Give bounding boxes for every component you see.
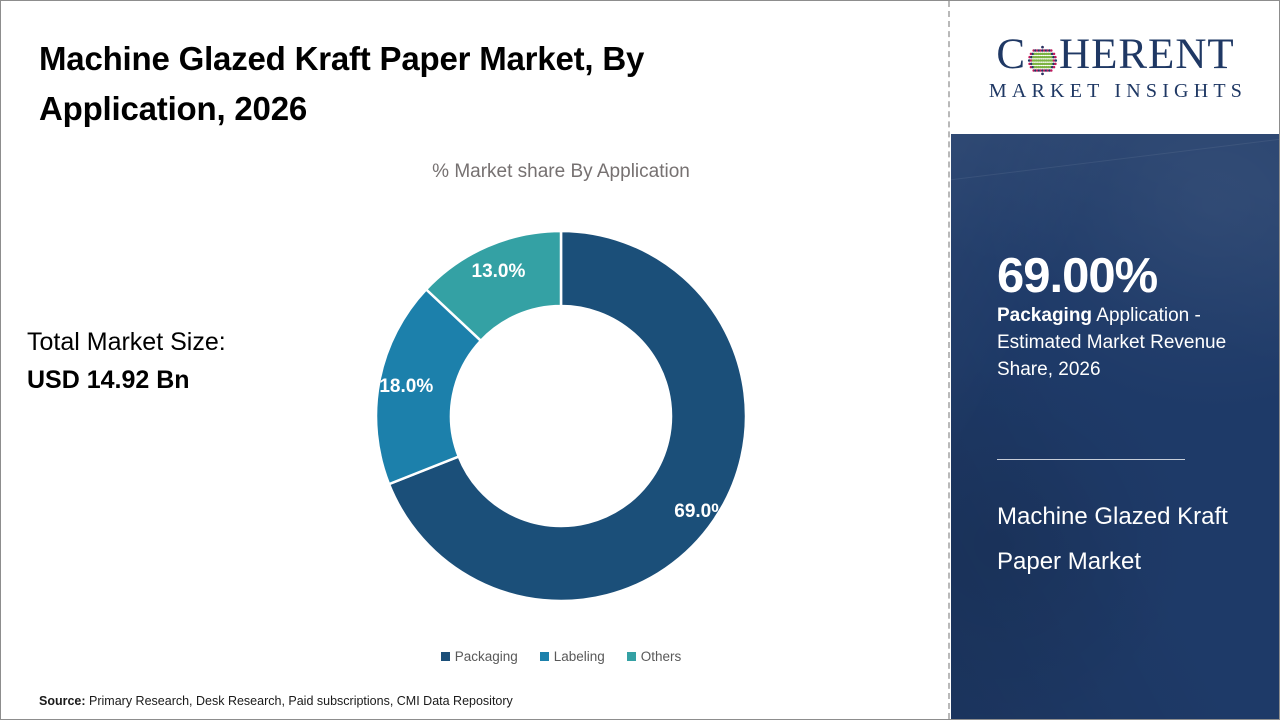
dotted-globe-icon xyxy=(1027,41,1058,72)
chart-subtitle: % Market share By Application xyxy=(301,161,821,183)
infographic-page: Machine Glazed Kraft Paper Market, By Ap… xyxy=(0,0,1280,720)
source-note: Source: Primary Research, Desk Research,… xyxy=(39,694,513,708)
chart-panel: Machine Glazed Kraft Paper Market, By Ap… xyxy=(1,1,949,719)
highlight-content: 69.00% Packaging Application - Estimated… xyxy=(951,134,1280,719)
total-market-size-label: Total Market Size: xyxy=(27,323,347,361)
panel-rule xyxy=(997,459,1185,460)
chart-legend: Packaging Labeling Others xyxy=(376,649,746,664)
legend-label-packaging: Packaging xyxy=(455,649,518,664)
highlight-panel: 69.00% Packaging Application - Estimated… xyxy=(951,134,1280,719)
legend-item-packaging[interactable]: Packaging xyxy=(441,649,518,664)
brand-panel: C HERENT MARKET INSIGHTS 69.00% Packagin… xyxy=(951,1,1280,719)
donut-slices xyxy=(376,231,746,601)
donut-label-others: 13.0% xyxy=(472,261,526,282)
legend-label-others: Others xyxy=(641,649,682,664)
donut-label-packaging: 69.0% xyxy=(674,501,728,522)
legend-item-labeling[interactable]: Labeling xyxy=(540,649,605,664)
logo-wordmark: C HERENT xyxy=(996,33,1234,76)
logo[interactable]: C HERENT MARKET INSIGHTS xyxy=(951,1,1280,134)
logo-word-c: C xyxy=(996,33,1026,76)
highlight-stat-caption: Packaging Application - Estimated Market… xyxy=(997,302,1247,383)
panel-divider xyxy=(948,1,950,719)
logo-tagline: MARKET INSIGHTS xyxy=(984,80,1247,103)
legend-swatch-labeling xyxy=(540,652,549,661)
legend-swatch-others xyxy=(627,652,636,661)
logo-word-herent: HERENT xyxy=(1059,33,1235,76)
donut-chart-svg: 69.0%18.0%13.0% xyxy=(376,231,746,601)
donut-chart: 69.0%18.0%13.0% xyxy=(376,231,746,601)
total-market-size-value: USD 14.92 Bn xyxy=(27,361,347,399)
highlight-stat-value: 69.00% xyxy=(997,252,1157,301)
source-text: Primary Research, Desk Research, Paid su… xyxy=(89,694,513,708)
donut-label-labeling: 18.0% xyxy=(379,376,433,397)
total-market-size-block: Total Market Size: USD 14.92 Bn xyxy=(27,323,347,399)
legend-swatch-packaging xyxy=(441,652,450,661)
legend-item-others[interactable]: Others xyxy=(627,649,682,664)
legend-label-labeling: Labeling xyxy=(554,649,605,664)
source-label: Source: xyxy=(39,694,86,708)
highlight-stat-caption-bold: Packaging xyxy=(997,305,1092,326)
page-title: Machine Glazed Kraft Paper Market, By Ap… xyxy=(39,34,799,134)
market-name: Machine Glazed Kraft Paper Market xyxy=(997,494,1247,584)
